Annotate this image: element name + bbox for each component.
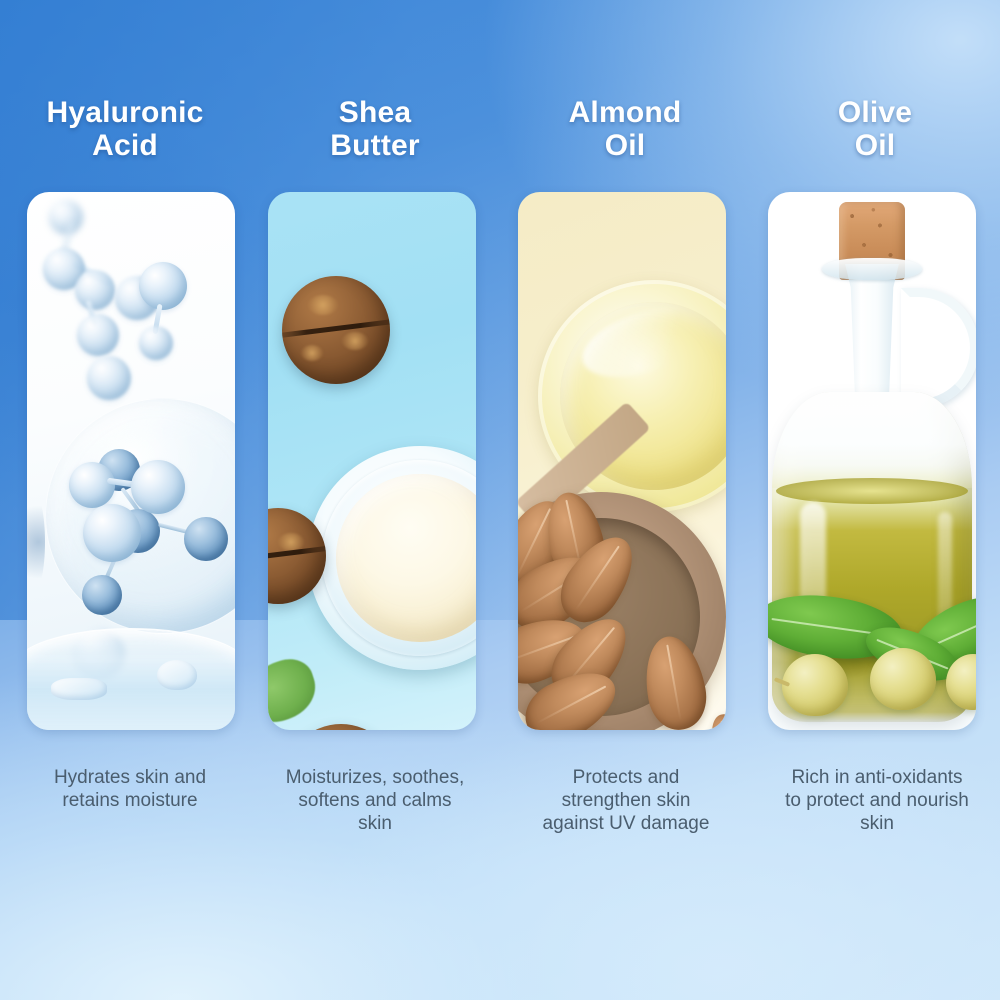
molecule-sphere (75, 270, 115, 310)
nut-spot (342, 332, 368, 350)
card-caption: Rich in anti-oxidants to protect and nou… (758, 766, 996, 835)
water-droplet (51, 678, 107, 700)
molecule-sphere (131, 460, 185, 514)
inner-molecule-sphere (184, 517, 228, 561)
cruet-shoulder (772, 392, 972, 488)
water-droplet (157, 660, 197, 690)
card-title: Hyaluronic Acid (0, 96, 250, 162)
leaf (268, 653, 323, 730)
almond-oil-bowl-photo (518, 192, 726, 730)
shea-butter-jar-photo (268, 192, 476, 730)
macadamia-nut (284, 724, 398, 730)
almond (701, 707, 726, 730)
molecule-sphere (77, 314, 119, 356)
ingredient-card-hyaluronic-acid: Hyaluronic Acid (0, 0, 250, 1000)
card-title: Shea Butter (250, 96, 500, 162)
molecule-sphere (83, 504, 141, 562)
nut-spot (308, 295, 338, 315)
cruet-collar (822, 258, 922, 280)
macadamia-nut (282, 276, 390, 384)
nut-spot (301, 345, 323, 361)
molecule-sphere (87, 356, 131, 400)
card-title: Olive Oil (750, 96, 1000, 162)
molecule-sphere (139, 326, 173, 360)
ingredient-card-grid: Hyaluronic Acid (0, 0, 1000, 1000)
inner-molecule-sphere (82, 575, 122, 615)
molecule-sphere (49, 200, 83, 234)
photo-edge-shadow (27, 492, 45, 592)
card-caption: Hydrates skin and retains moisture (16, 766, 244, 812)
hyaluronic-acid-molecules-photo (27, 192, 235, 730)
olive-oil-cruet-photo (768, 192, 976, 730)
ingredient-card-olive-oil: Olive Oil (750, 0, 1000, 1000)
green-olive (782, 654, 848, 716)
card-caption: Protects and strengthen skin against UV … (510, 766, 742, 835)
card-caption: Moisturizes, soothes, softens and calms … (258, 766, 492, 835)
molecule-sphere (69, 462, 115, 508)
oil-surface (776, 478, 968, 504)
nut-spot (278, 533, 304, 551)
ingredient-card-almond-oil: Almond Oil Protects and strengthen skin … (500, 0, 750, 1000)
large-glass-sphere (45, 398, 235, 634)
card-title: Almond Oil (500, 96, 750, 162)
ingredient-card-shea-butter: Shea Butter Moisturizes, soothes, soften… (250, 0, 500, 1000)
molecule-sphere (139, 262, 187, 310)
green-olive (870, 648, 936, 710)
cream-jar (308, 446, 476, 670)
cruet-handle (901, 288, 976, 408)
